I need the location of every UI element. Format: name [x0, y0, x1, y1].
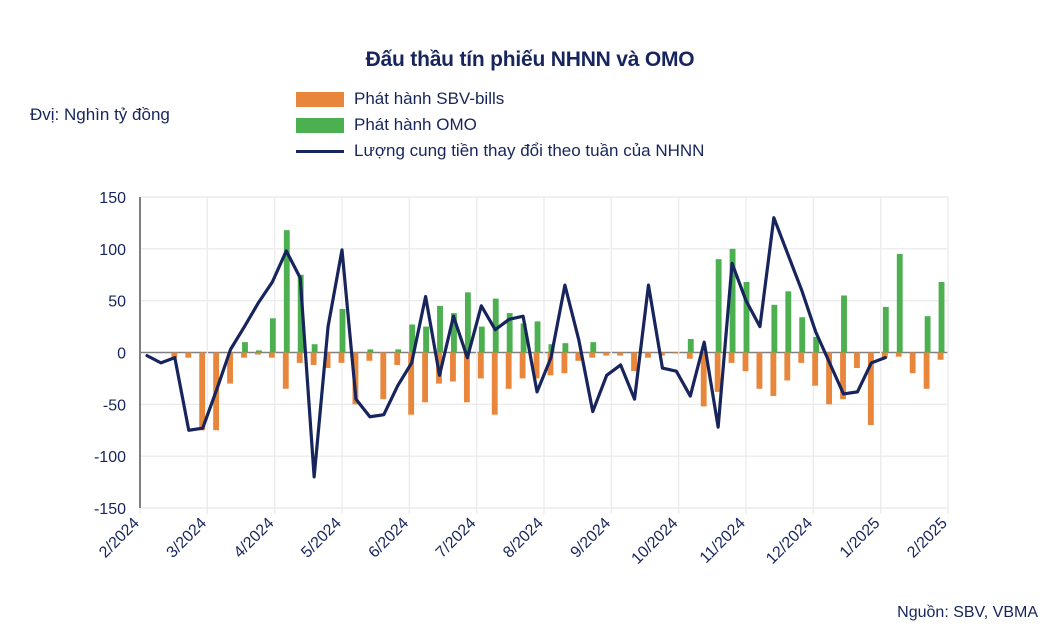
y-tick-label: -100	[94, 449, 126, 466]
bar-sbv-bills	[506, 353, 512, 389]
bar-sbv-bills	[492, 353, 498, 415]
bar-omo	[688, 339, 694, 352]
bar-omo	[284, 230, 290, 352]
bar-omo	[340, 309, 346, 353]
bar-sbv-bills	[798, 353, 804, 363]
bar-omo	[785, 291, 791, 352]
bar-sbv-bills	[659, 353, 665, 356]
x-tick-label: 11/2024	[697, 515, 749, 567]
x-tick-label: 10/2024	[629, 515, 682, 568]
bar-sbv-bills	[826, 353, 832, 405]
bar-sbv-bills	[478, 353, 484, 379]
legend-item-omo[interactable]: Phát hành OMO	[296, 112, 704, 138]
bar-sbv-bills	[366, 353, 372, 361]
x-tick-label: 9/2024	[568, 515, 615, 562]
bar-omo	[451, 313, 457, 352]
bar-sbv-bills	[715, 353, 721, 392]
source-note: Nguồn: SBV, VBMA	[897, 604, 1038, 622]
bar-sbv-bills	[673, 353, 679, 354]
bar-sbv-bills	[380, 353, 386, 400]
bar-sbv-bills	[896, 353, 902, 357]
bar-omo	[437, 306, 443, 353]
line-money-supply	[147, 218, 885, 477]
bar-sbv-bills	[701, 353, 707, 407]
bar-omo	[298, 275, 304, 353]
x-tick-label: 1/2025	[837, 515, 884, 562]
bar-sbv-bills	[729, 353, 735, 363]
bar-sbv-bills	[408, 353, 414, 415]
page-title: Đấu thầu tín phiếu NHNN và OMO	[0, 48, 1060, 72]
bar-sbv-bills	[757, 353, 763, 389]
y-tick-label: 150	[99, 190, 126, 207]
bar-sbv-bills	[617, 353, 623, 356]
bar-sbv-bills	[394, 353, 400, 365]
bar-sbv-bills	[743, 353, 749, 372]
legend-swatch-money-supply-line	[296, 144, 344, 159]
x-tick-label: 8/2024	[500, 515, 547, 562]
bar-sbv-bills	[631, 353, 637, 372]
bar-omo	[270, 318, 276, 352]
bar-sbv-bills	[812, 353, 818, 386]
bar-sbv-bills	[534, 353, 540, 379]
bar-sbv-bills	[283, 353, 289, 389]
bar-omo	[465, 292, 471, 352]
bar-sbv-bills	[589, 353, 595, 358]
bar-omo	[312, 344, 318, 352]
bar-omo	[479, 327, 485, 353]
bar-sbv-bills	[575, 353, 581, 361]
bar-sbv-bills	[241, 353, 247, 358]
legend-label-sbv-bills: Phát hành SBV-bills	[354, 89, 504, 109]
bar-sbv-bills	[436, 353, 442, 384]
bar-omo	[744, 282, 750, 352]
bar-sbv-bills	[882, 353, 888, 358]
bar-sbv-bills	[353, 353, 359, 405]
bar-sbv-bills	[269, 353, 275, 358]
legend-swatch-omo	[296, 118, 344, 133]
bar-sbv-bills	[840, 353, 846, 400]
bar-sbv-bills	[924, 353, 930, 389]
y-tick-label: 100	[99, 242, 126, 259]
y-tick-label: 50	[108, 294, 126, 311]
bar-sbv-bills	[910, 353, 916, 374]
bar-sbv-bills	[311, 353, 317, 365]
bar-sbv-bills	[199, 353, 205, 431]
bar-omo	[925, 316, 931, 352]
bar-omo	[395, 349, 401, 352]
bar-omo	[883, 307, 889, 353]
bar-sbv-bills	[603, 353, 609, 356]
bar-sbv-bills	[185, 353, 191, 358]
bar-omo	[507, 313, 513, 352]
bar-omo	[771, 305, 777, 353]
bar-omo	[562, 343, 568, 352]
legend-item-money-supply[interactable]: Lượng cung tiền thay đổi theo tuần của N…	[296, 138, 704, 164]
bar-sbv-bills	[325, 353, 331, 369]
bar-omo	[535, 321, 541, 352]
bar-omo	[549, 344, 555, 352]
x-tick-label: 7/2024	[433, 515, 480, 562]
y-tick-label: -50	[103, 397, 126, 414]
bar-sbv-bills	[548, 353, 554, 376]
bar-omo	[493, 299, 499, 353]
bar-omo	[256, 350, 262, 352]
bar-sbv-bills	[938, 353, 944, 360]
bar-sbv-bills	[784, 353, 790, 381]
bar-omo	[799, 317, 805, 352]
bar-omo	[939, 282, 945, 352]
bar-sbv-bills	[868, 353, 874, 426]
chart-legend: Phát hành SBV-bills Phát hành OMO Lượng …	[296, 86, 704, 164]
legend-item-sbv-bills[interactable]: Phát hành SBV-bills	[296, 86, 704, 112]
bar-sbv-bills	[297, 353, 303, 363]
bar-omo	[813, 337, 819, 353]
unit-label: Đvị: Nghìn tỷ đồng	[30, 105, 170, 125]
bar-sbv-bills	[171, 353, 177, 358]
bar-omo	[730, 249, 736, 353]
bar-sbv-bills	[645, 353, 651, 358]
x-tick-label: 2/2024	[96, 515, 143, 562]
bar-omo	[841, 295, 847, 352]
bar-omo	[590, 342, 596, 352]
bar-sbv-bills	[227, 353, 233, 384]
bar-sbv-bills	[255, 353, 261, 355]
bar-omo	[242, 342, 248, 352]
bar-sbv-bills	[854, 353, 860, 369]
legend-label-money-supply: Lượng cung tiền thay đổi theo tuần của N…	[354, 141, 704, 161]
bar-sbv-bills	[561, 353, 567, 374]
bar-sbv-bills	[450, 353, 456, 382]
x-tick-label: 6/2024	[366, 515, 413, 562]
bar-omo	[716, 259, 722, 352]
legend-label-omo: Phát hành OMO	[354, 115, 477, 135]
bar-sbv-bills	[422, 353, 428, 403]
bar-omo	[521, 323, 527, 352]
bar-omo	[409, 325, 415, 353]
x-tick-label: 5/2024	[298, 515, 345, 562]
y-tick-label: -150	[94, 501, 126, 518]
bar-sbv-bills	[464, 353, 470, 403]
bar-sbv-bills	[520, 353, 526, 379]
bar-omo	[423, 327, 429, 353]
bar-omo	[367, 349, 373, 352]
bar-sbv-bills	[770, 353, 776, 397]
bar-sbv-bills	[339, 353, 345, 363]
chart-container: Đấu thầu tín phiếu NHNN và OMO Đvị: Nghì…	[0, 0, 1060, 634]
x-tick-label: 4/2024	[231, 515, 278, 562]
bar-sbv-bills	[213, 353, 219, 431]
bar-omo	[897, 254, 903, 352]
bar-sbv-bills	[687, 353, 693, 359]
legend-swatch-sbv-bills	[296, 92, 344, 107]
x-tick-label: 2/2025	[904, 515, 951, 562]
x-tick-label: 3/2024	[164, 515, 211, 562]
y-tick-label: 0	[117, 346, 126, 363]
x-tick-label: 12/2024	[763, 515, 816, 568]
